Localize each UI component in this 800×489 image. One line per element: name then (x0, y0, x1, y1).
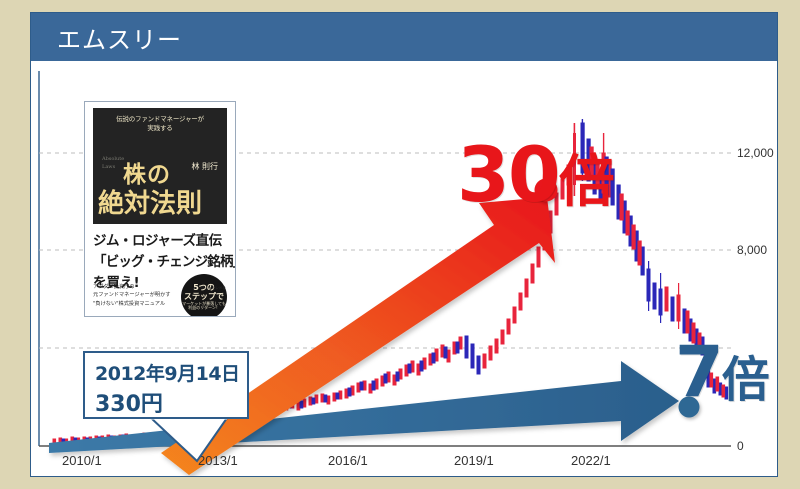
callout-price: 330円 (95, 386, 163, 418)
y-tick-12000: 12,000 (737, 146, 774, 160)
book-faint-line2: Laws (102, 164, 124, 172)
book-faint-text: Absolute Laws (102, 156, 124, 171)
book-small-line1: アブダビ投資庁の (93, 283, 170, 291)
book-laurel-line2: 実践する (93, 124, 227, 133)
price-callout: 2012年9月14日 330円 (83, 351, 249, 419)
x-tick-2010: 2010/1 (62, 453, 102, 468)
book-badge-line4: 利益のリターン！ (188, 306, 220, 311)
book-laurel-text: 伝説のファンドマネージャーが 実践する (93, 115, 227, 133)
book-faint-line1: Absolute (102, 156, 124, 164)
x-tick-2022: 2022/1 (571, 453, 611, 468)
book-band-line2: 「ビッグ・チェンジ銘柄」 (93, 250, 227, 270)
y-tick-0: 0 (737, 439, 744, 453)
multiplier-30x-unit: 倍 (559, 150, 613, 215)
multiplier-7x-label: 7倍 (675, 337, 768, 407)
multiplier-30x-label: 30倍 (457, 137, 613, 213)
multiplier-30x-value: 30 (457, 130, 559, 219)
book-laurel-line1: 伝説のファンドマネージャーが (93, 115, 227, 124)
book-title-line2: 絶対法則 (98, 183, 202, 220)
y-tick-8000: 8,000 (737, 243, 767, 257)
x-tick-2016: 2016/1 (328, 453, 368, 468)
book-cover: 伝説のファンドマネージャーが 実践する Absolute Laws 林 則行 株… (84, 101, 236, 317)
book-cover-top: 伝説のファンドマネージャーが 実践する Absolute Laws 林 則行 株… (93, 108, 227, 224)
x-tick-2019: 2019/1 (454, 453, 494, 468)
callout-tail (149, 417, 229, 463)
page-title: エムスリー (31, 20, 182, 55)
book-band-line1: ジム・ロジャーズ直伝 (93, 229, 227, 249)
book-author: 林 則行 (191, 161, 218, 172)
title-banner: エムスリー (31, 13, 778, 61)
book-small-line2: 元ファンドマネージャーが明かす (93, 291, 170, 299)
book-badge: 5つの ステップで マーケットが暴落しても 利益のリターン！ (181, 274, 227, 317)
slide-card: エムスリー (30, 12, 778, 477)
book-small-line3: "負けない"株式投資マニュアル (93, 300, 170, 308)
book-cover-bottom: ジム・ロジャーズ直伝 「ビッグ・チェンジ銘柄」 を買え! アブダビ投資庁の 元フ… (93, 229, 227, 291)
multiplier-7x-value: 7 (675, 331, 722, 413)
chart-plot-area: 12,000 8,000 0 2010/1 2013/1 2016/1 2019… (31, 61, 778, 477)
multiplier-7x-unit: 倍 (722, 352, 768, 408)
callout-date: 2012年9月14日 (95, 359, 240, 386)
book-small-text: アブダビ投資庁の 元ファンドマネージャーが明かす "負けない"株式投資マニュアル (93, 283, 170, 308)
screenshot-root: エムスリー (0, 0, 800, 489)
book-publisher: ダイヤモンド社 (201, 286, 226, 291)
